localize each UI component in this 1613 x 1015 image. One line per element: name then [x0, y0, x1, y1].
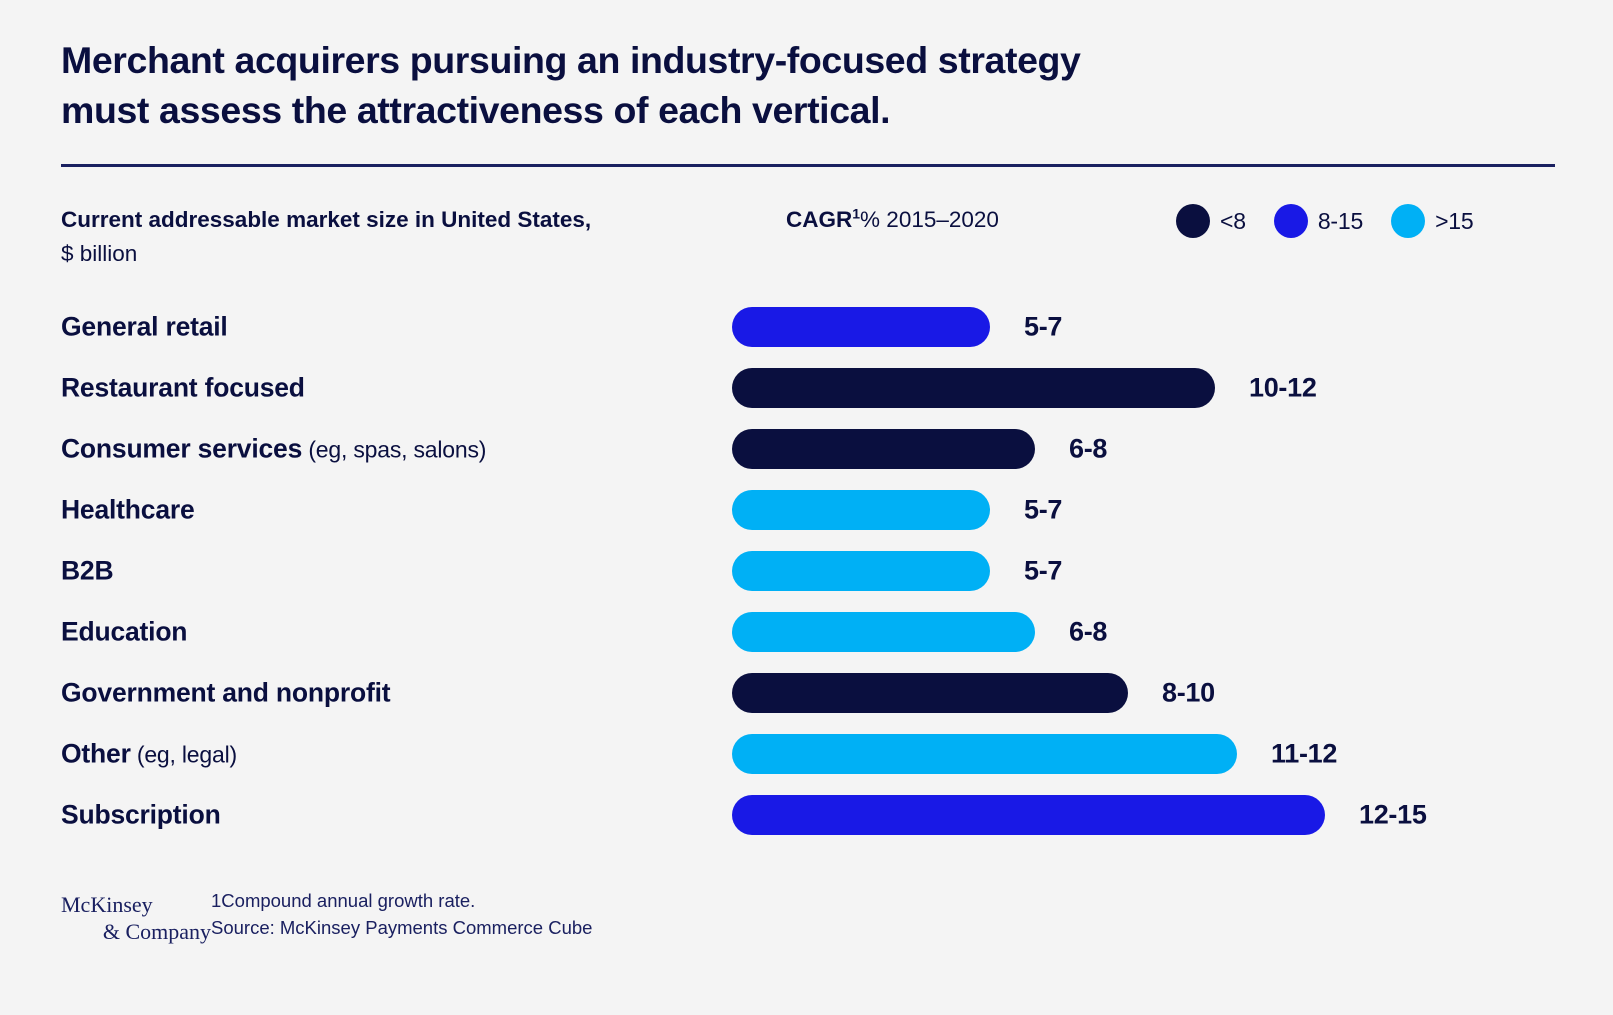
- legend-swatch-circle-icon-2: [1391, 204, 1425, 238]
- bar-value-label-3: 5-7: [1024, 494, 1062, 525]
- category-label-main: Restaurant focused: [61, 372, 305, 402]
- category-label-main: Subscription: [61, 799, 221, 829]
- bar-3[interactable]: [732, 490, 990, 530]
- category-label-main: General retail: [61, 311, 228, 341]
- category-label-main: Other: [61, 738, 131, 768]
- legend-swatch-circle-icon-1: [1274, 204, 1308, 238]
- chart-row: Subscription12-15: [0, 784, 1613, 845]
- cagr-footnote-marker: 1: [852, 206, 860, 222]
- bar-chart: General retail5-7Restaurant focused10-12…: [0, 296, 1613, 845]
- legend-label-2: >15: [1435, 208, 1473, 235]
- bar-value-label-8: 12-15: [1359, 799, 1427, 830]
- bar-value-label-4: 5-7: [1024, 555, 1062, 586]
- chart-row: General retail5-7: [0, 296, 1613, 357]
- legend-label-0: <8: [1220, 208, 1246, 235]
- category-label-7: Other (eg, legal): [61, 738, 237, 769]
- legend-item-1[interactable]: 8-15: [1274, 204, 1363, 238]
- bar-value-label-0: 5-7: [1024, 311, 1062, 342]
- bar-track-2: 6-8: [732, 429, 1432, 469]
- bar-6[interactable]: [732, 673, 1128, 713]
- bar-value-label-2: 6-8: [1069, 433, 1107, 464]
- bar-track-8: 12-15: [732, 795, 1432, 835]
- bar-0[interactable]: [732, 307, 990, 347]
- category-label-4: B2B: [61, 555, 113, 586]
- category-label-main: Consumer services: [61, 433, 302, 463]
- cagr-label: CAGR: [786, 207, 852, 232]
- legend: <8 8-15 >15: [1176, 204, 1473, 238]
- bar-track-5: 6-8: [732, 612, 1432, 652]
- category-label-main: B2B: [61, 555, 113, 585]
- mckinsey-logo: McKinsey & Company: [61, 888, 211, 946]
- category-label-2: Consumer services (eg, spas, salons): [61, 433, 486, 464]
- category-label-8: Subscription: [61, 799, 221, 830]
- page-title: Merchant acquirers pursuing an industry-…: [61, 36, 1241, 136]
- category-label-note: (eg, spas, salons): [302, 436, 486, 462]
- legend-label-1: 8-15: [1318, 208, 1363, 235]
- cagr-caption: CAGR1% 2015–2020: [786, 203, 999, 237]
- category-label-main: Education: [61, 616, 187, 646]
- category-label-1: Restaurant focused: [61, 372, 305, 403]
- bar-track-6: 8-10: [732, 673, 1432, 713]
- category-label-main: Government and nonprofit: [61, 677, 390, 707]
- logo-line-1: McKinsey: [61, 892, 211, 919]
- logo-line-2: & Company: [61, 919, 211, 946]
- chart-row: Government and nonprofit8-10: [0, 662, 1613, 723]
- category-label-note: (eg, legal): [131, 741, 237, 767]
- bar-track-7: 11-12: [732, 734, 1432, 774]
- chart-row: Other (eg, legal)11-12: [0, 723, 1613, 784]
- category-label-0: General retail: [61, 311, 228, 342]
- bar-5[interactable]: [732, 612, 1035, 652]
- chart-row: Consumer services (eg, spas, salons)6-8: [0, 418, 1613, 479]
- cagr-period: % 2015–2020: [860, 207, 999, 232]
- bar-value-label-5: 6-8: [1069, 616, 1107, 647]
- bar-value-label-7: 11-12: [1271, 738, 1337, 769]
- chart-row: Education6-8: [0, 601, 1613, 662]
- legend-item-2[interactable]: >15: [1391, 204, 1473, 238]
- bar-track-4: 5-7: [732, 551, 1432, 591]
- bar-value-label-1: 10-12: [1249, 372, 1317, 403]
- bar-2[interactable]: [732, 429, 1035, 469]
- chart-row: Healthcare5-7: [0, 479, 1613, 540]
- bar-track-0: 5-7: [732, 307, 1432, 347]
- metric-caption: Current addressable market size in Unite…: [61, 203, 761, 271]
- chart-row: B2B5-7: [0, 540, 1613, 601]
- bar-1[interactable]: [732, 368, 1215, 408]
- bar-value-label-6: 8-10: [1162, 677, 1215, 708]
- source-text: Source: McKinsey Payments Commerce Cube: [211, 915, 592, 942]
- footer: McKinsey & Company 1Compound annual grow…: [61, 888, 592, 946]
- bar-track-1: 10-12: [732, 368, 1432, 408]
- legend-swatch-circle-icon-0: [1176, 204, 1210, 238]
- footnote-text: 1Compound annual growth rate.: [211, 888, 592, 915]
- footnotes: 1Compound annual growth rate. Source: Mc…: [211, 888, 592, 942]
- bar-track-3: 5-7: [732, 490, 1432, 530]
- category-label-5: Education: [61, 616, 187, 647]
- bar-8[interactable]: [732, 795, 1325, 835]
- legend-item-0[interactable]: <8: [1176, 204, 1246, 238]
- chart-row: Restaurant focused10-12: [0, 357, 1613, 418]
- category-label-3: Healthcare: [61, 494, 195, 525]
- category-label-main: Healthcare: [61, 494, 195, 524]
- metric-caption-bold: Current addressable market size in Unite…: [61, 207, 591, 232]
- category-label-6: Government and nonprofit: [61, 677, 390, 708]
- header-divider: [61, 164, 1555, 167]
- bar-7[interactable]: [732, 734, 1237, 774]
- bar-4[interactable]: [732, 551, 990, 591]
- metric-caption-unit: $ billion: [61, 241, 137, 266]
